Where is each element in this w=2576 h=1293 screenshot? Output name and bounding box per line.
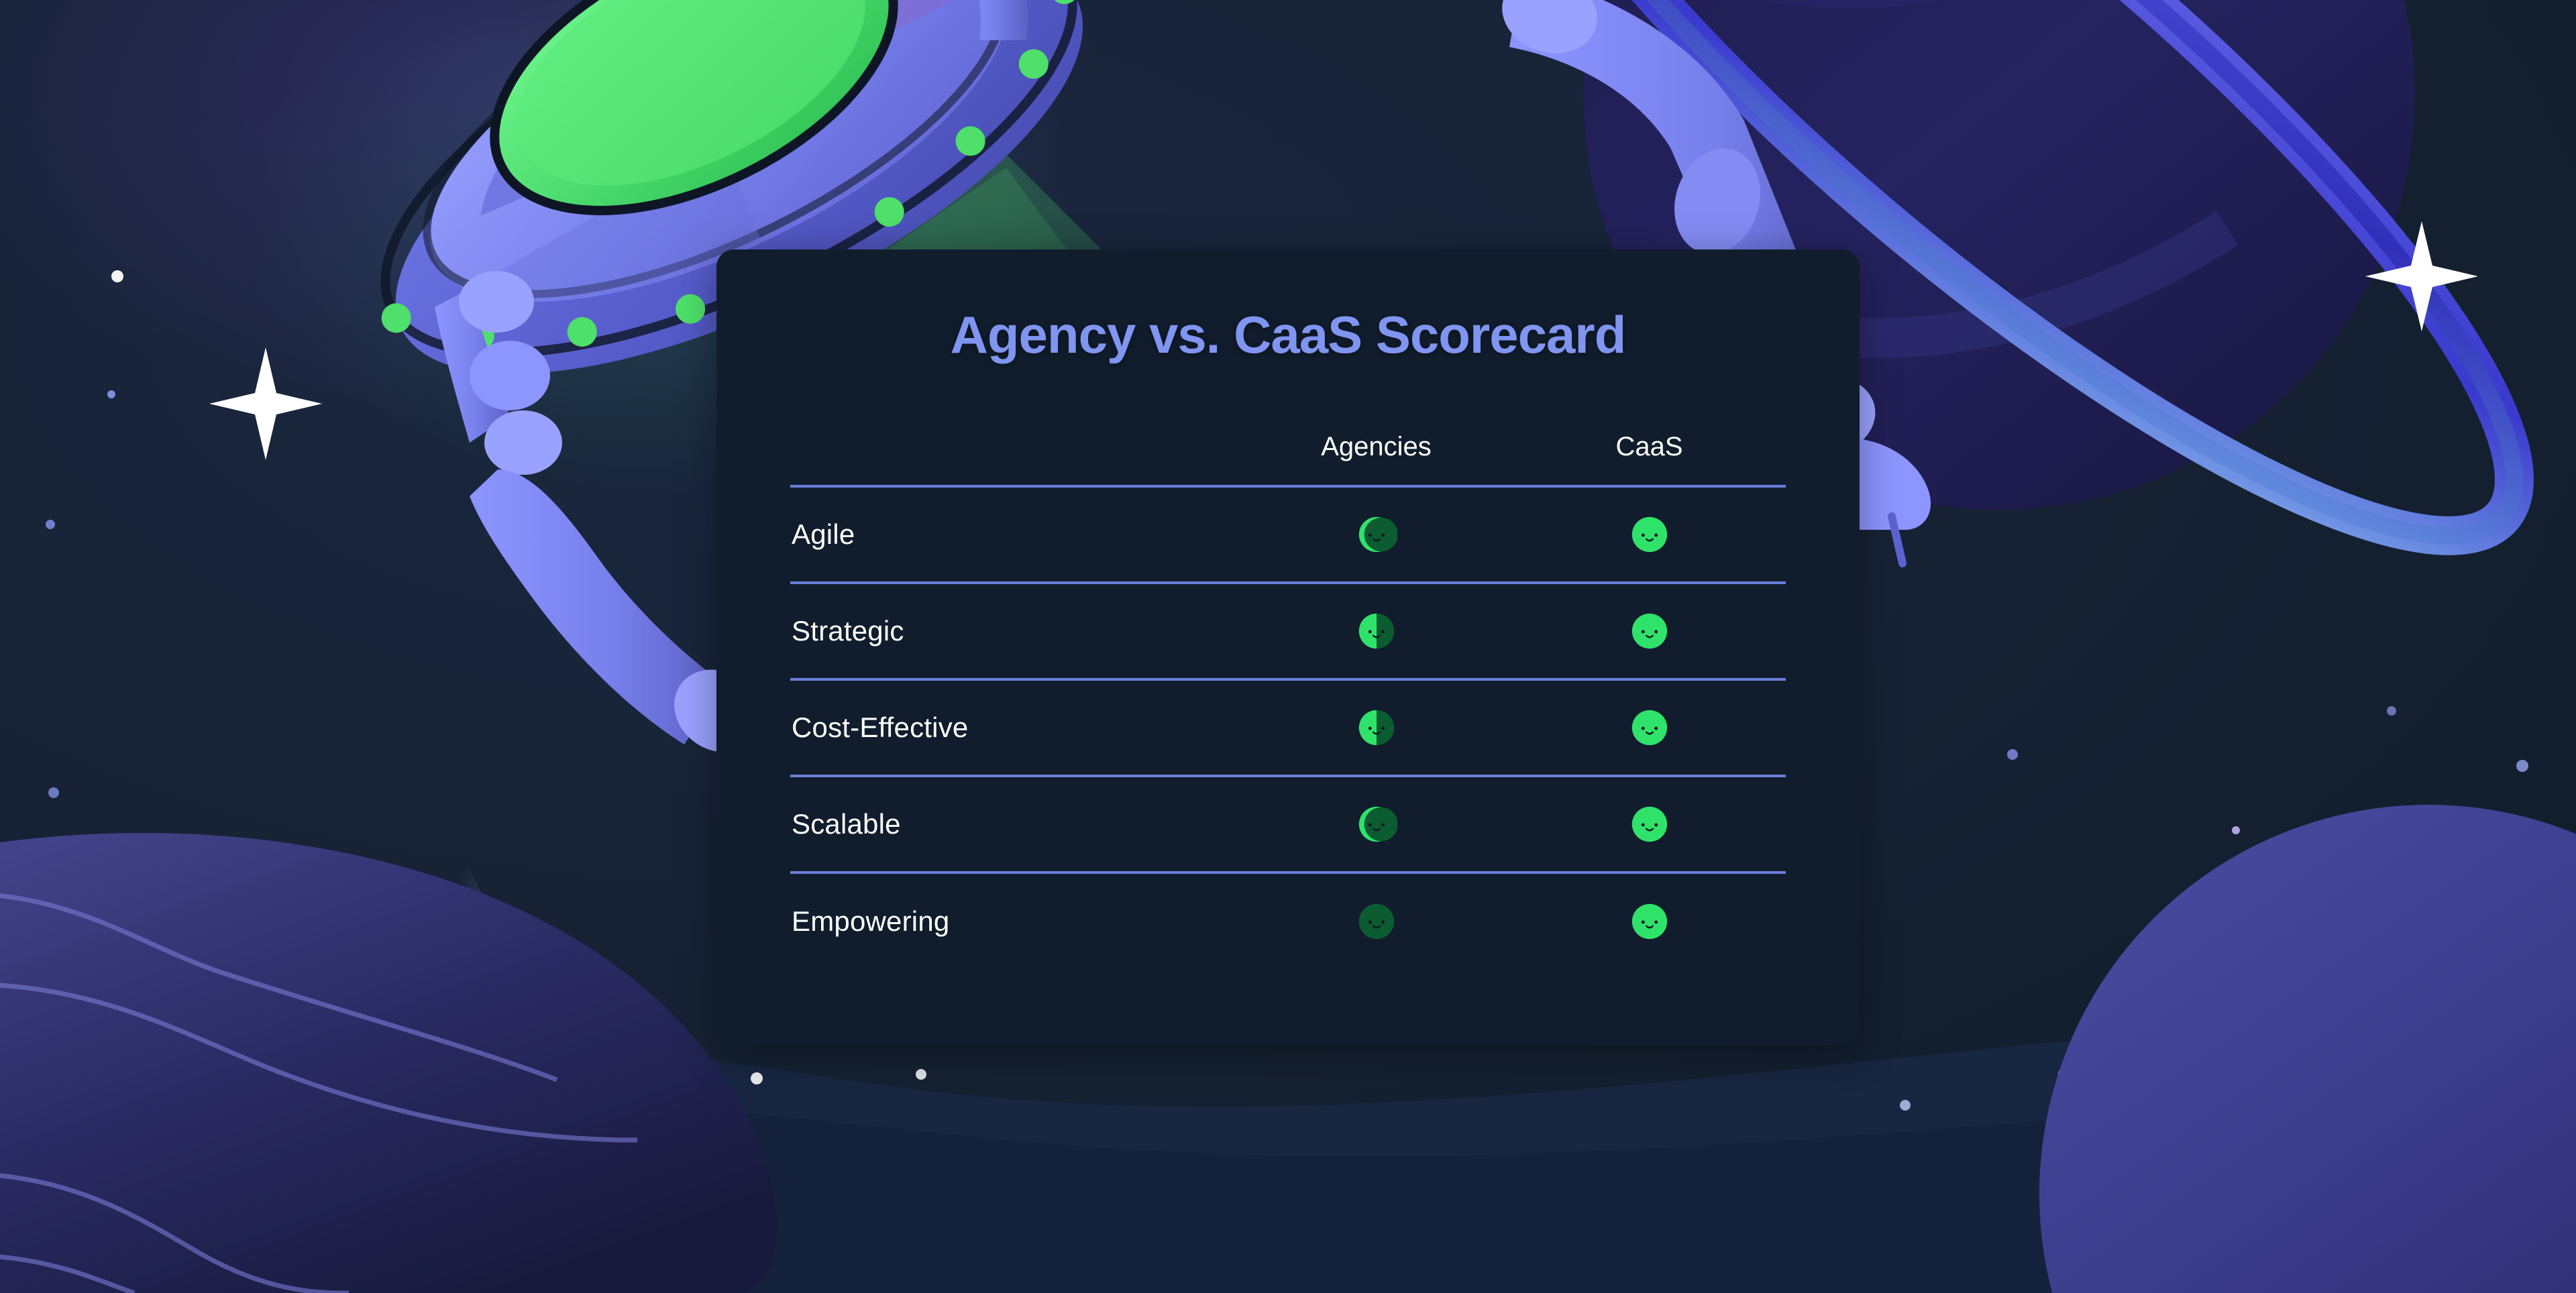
row-label: Cost-Effective [790, 679, 1240, 776]
row-label: Scalable [790, 776, 1240, 873]
full-moon-face-icon [1629, 818, 1670, 830]
cell-agencies [1240, 776, 1513, 873]
table-row: Empowering [790, 873, 1786, 969]
full-moon-face-icon [1629, 722, 1670, 733]
cell-caas [1513, 679, 1786, 776]
cell-agencies [1240, 583, 1513, 679]
row-label: Empowering [790, 873, 1240, 969]
column-header-criterion [790, 432, 1240, 486]
table-row: Strategic [790, 583, 1786, 679]
cell-agencies [1240, 679, 1513, 776]
scorecard-table: Agencies CaaS AgileStrategicCost-Effecti… [790, 432, 1786, 969]
table-header: Agencies CaaS [790, 432, 1786, 486]
column-header-agencies: Agencies [1240, 432, 1513, 486]
waning-crescent-moon-face-icon [1356, 528, 1397, 540]
row-label: Strategic [790, 583, 1240, 679]
scorecard-card: Agency vs. CaaS Scorecard Agencies CaaS … [716, 249, 1860, 1045]
page-title: Agency vs. CaaS Scorecard [716, 249, 1860, 361]
cell-caas [1513, 776, 1786, 873]
cell-caas [1513, 583, 1786, 679]
cell-caas [1513, 486, 1786, 583]
cell-caas [1513, 873, 1786, 969]
cell-agencies [1240, 486, 1513, 583]
table-row: Cost-Effective [790, 679, 1786, 776]
last-quarter-moon-face-icon [1356, 722, 1397, 733]
new-moon-face-icon [1356, 915, 1397, 927]
table-body: AgileStrategicCost-EffectiveScalableEmpo… [790, 486, 1786, 969]
table-row: Agile [790, 486, 1786, 583]
full-moon-face-icon [1629, 528, 1670, 540]
table-header-row: Agencies CaaS [790, 432, 1786, 486]
column-header-caas: CaaS [1513, 432, 1786, 486]
last-quarter-moon-face-icon [1356, 625, 1397, 636]
waning-crescent-moon-face-icon [1356, 818, 1397, 830]
row-label: Agile [790, 486, 1240, 583]
cell-agencies [1240, 873, 1513, 969]
table-row: Scalable [790, 776, 1786, 873]
full-moon-face-icon [1629, 915, 1670, 927]
full-moon-face-icon [1629, 625, 1670, 636]
